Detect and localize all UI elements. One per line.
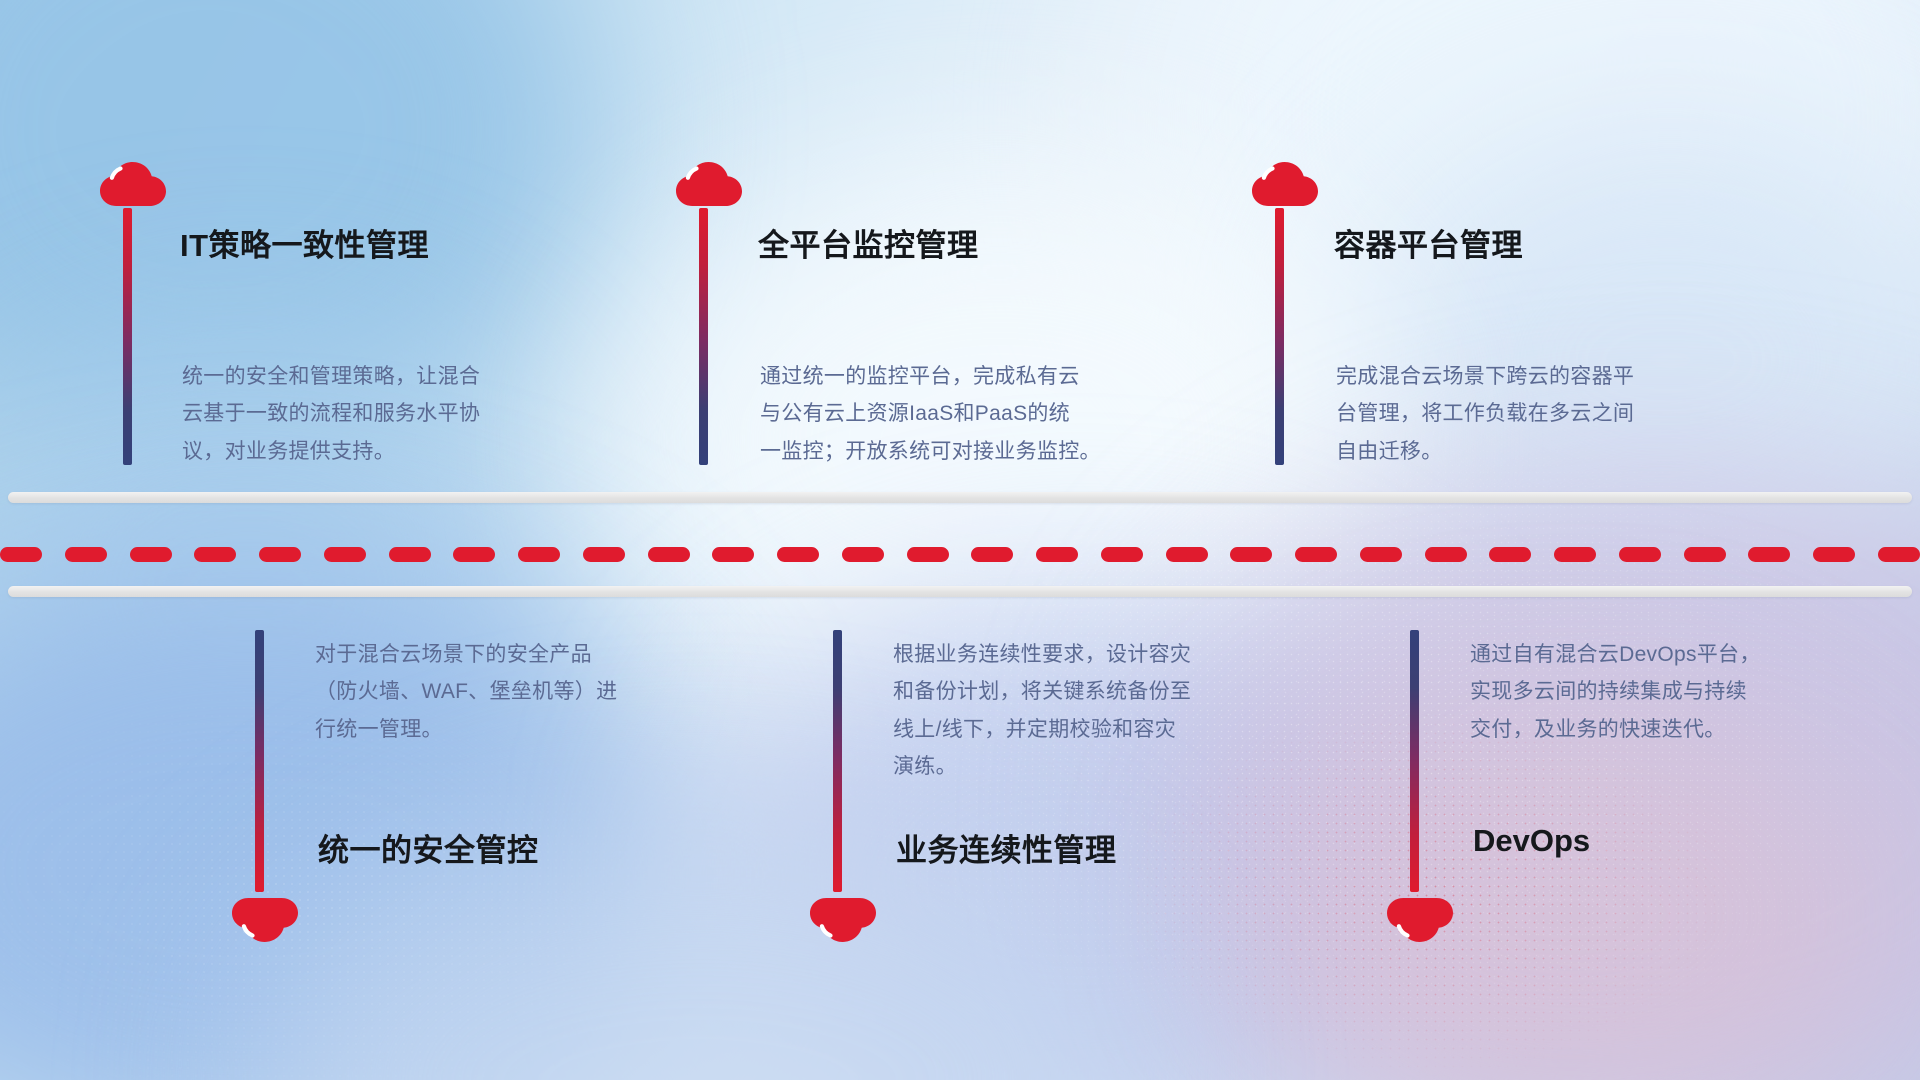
road-dash	[1360, 547, 1402, 562]
road-dash	[777, 547, 819, 562]
road-line-upper	[8, 492, 1912, 503]
item-description: 通过自有混合云DevOps平台， 实现多云间的持续集成与持续 交付，及业务的快速…	[1470, 636, 1900, 748]
cloud-icon	[1383, 890, 1455, 944]
road-dash	[648, 547, 690, 562]
cloud-icon	[228, 890, 300, 944]
cloud-icon	[1248, 160, 1320, 214]
road-dash	[1878, 547, 1920, 562]
road-dash	[453, 547, 495, 562]
cloud-icon	[96, 160, 168, 214]
item-title: 容器平台管理	[1334, 220, 1523, 265]
connector-stem	[1410, 630, 1419, 892]
infographic-canvas: IT策略一致性管理 统一的安全和管理策略，让混合 云基于一致的流程和服务水平协 …	[0, 0, 1920, 1080]
road-dash	[907, 547, 949, 562]
road-dash	[1684, 547, 1726, 562]
item-title: 全平台监控管理	[758, 220, 979, 265]
item-title: 业务连续性管理	[896, 825, 1117, 870]
road-dash	[1425, 547, 1467, 562]
road-dash	[971, 547, 1013, 562]
road-dash	[1619, 547, 1661, 562]
connector-stem	[1275, 208, 1284, 465]
connector-stem	[123, 208, 132, 465]
road-dash	[0, 547, 42, 562]
road-line-lower	[8, 586, 1912, 597]
road-dash	[712, 547, 754, 562]
road-dash	[1295, 547, 1337, 562]
road-dash	[1166, 547, 1208, 562]
cloud-icon	[672, 160, 744, 214]
road-dash	[1813, 547, 1855, 562]
item-description: 对于混合云场景下的安全产品 （防火墙、WAF、堡垒机等）进 行统一管理。	[315, 636, 745, 748]
road-dash	[518, 547, 560, 562]
road-dash	[194, 547, 236, 562]
road-dash	[1101, 547, 1143, 562]
road-dash	[583, 547, 625, 562]
road-dash	[389, 547, 431, 562]
cloud-icon	[806, 890, 878, 944]
item-title: DevOps	[1473, 823, 1590, 859]
road-dash	[1489, 547, 1531, 562]
road-dash	[1554, 547, 1596, 562]
road-dashed-centerline	[0, 546, 1920, 562]
connector-stem	[699, 208, 708, 465]
road-dash	[1748, 547, 1790, 562]
road-dash	[324, 547, 366, 562]
item-description: 根据业务连续性要求，设计容灾 和备份计划，将关键系统备份至 线上/线下，并定期校…	[893, 636, 1323, 786]
road-dash	[130, 547, 172, 562]
item-description: 通过统一的监控平台，完成私有云 与公有云上资源IaaS和PaaS的统 一监控；开…	[760, 358, 1210, 470]
road-dash	[1230, 547, 1272, 562]
connector-stem	[833, 630, 842, 892]
road-dash	[65, 547, 107, 562]
item-description: 完成混合云场景下跨云的容器平 台管理，将工作负载在多云之间 自由迁移。	[1336, 358, 1776, 470]
connector-stem	[255, 630, 264, 892]
item-title: IT策略一致性管理	[180, 220, 429, 265]
item-title: 统一的安全管控	[318, 825, 539, 870]
road-dash	[259, 547, 301, 562]
item-description: 统一的安全和管理策略，让混合 云基于一致的流程和服务水平协 议，对业务提供支持。	[182, 358, 622, 470]
road-dash	[1036, 547, 1078, 562]
road-dash	[842, 547, 884, 562]
